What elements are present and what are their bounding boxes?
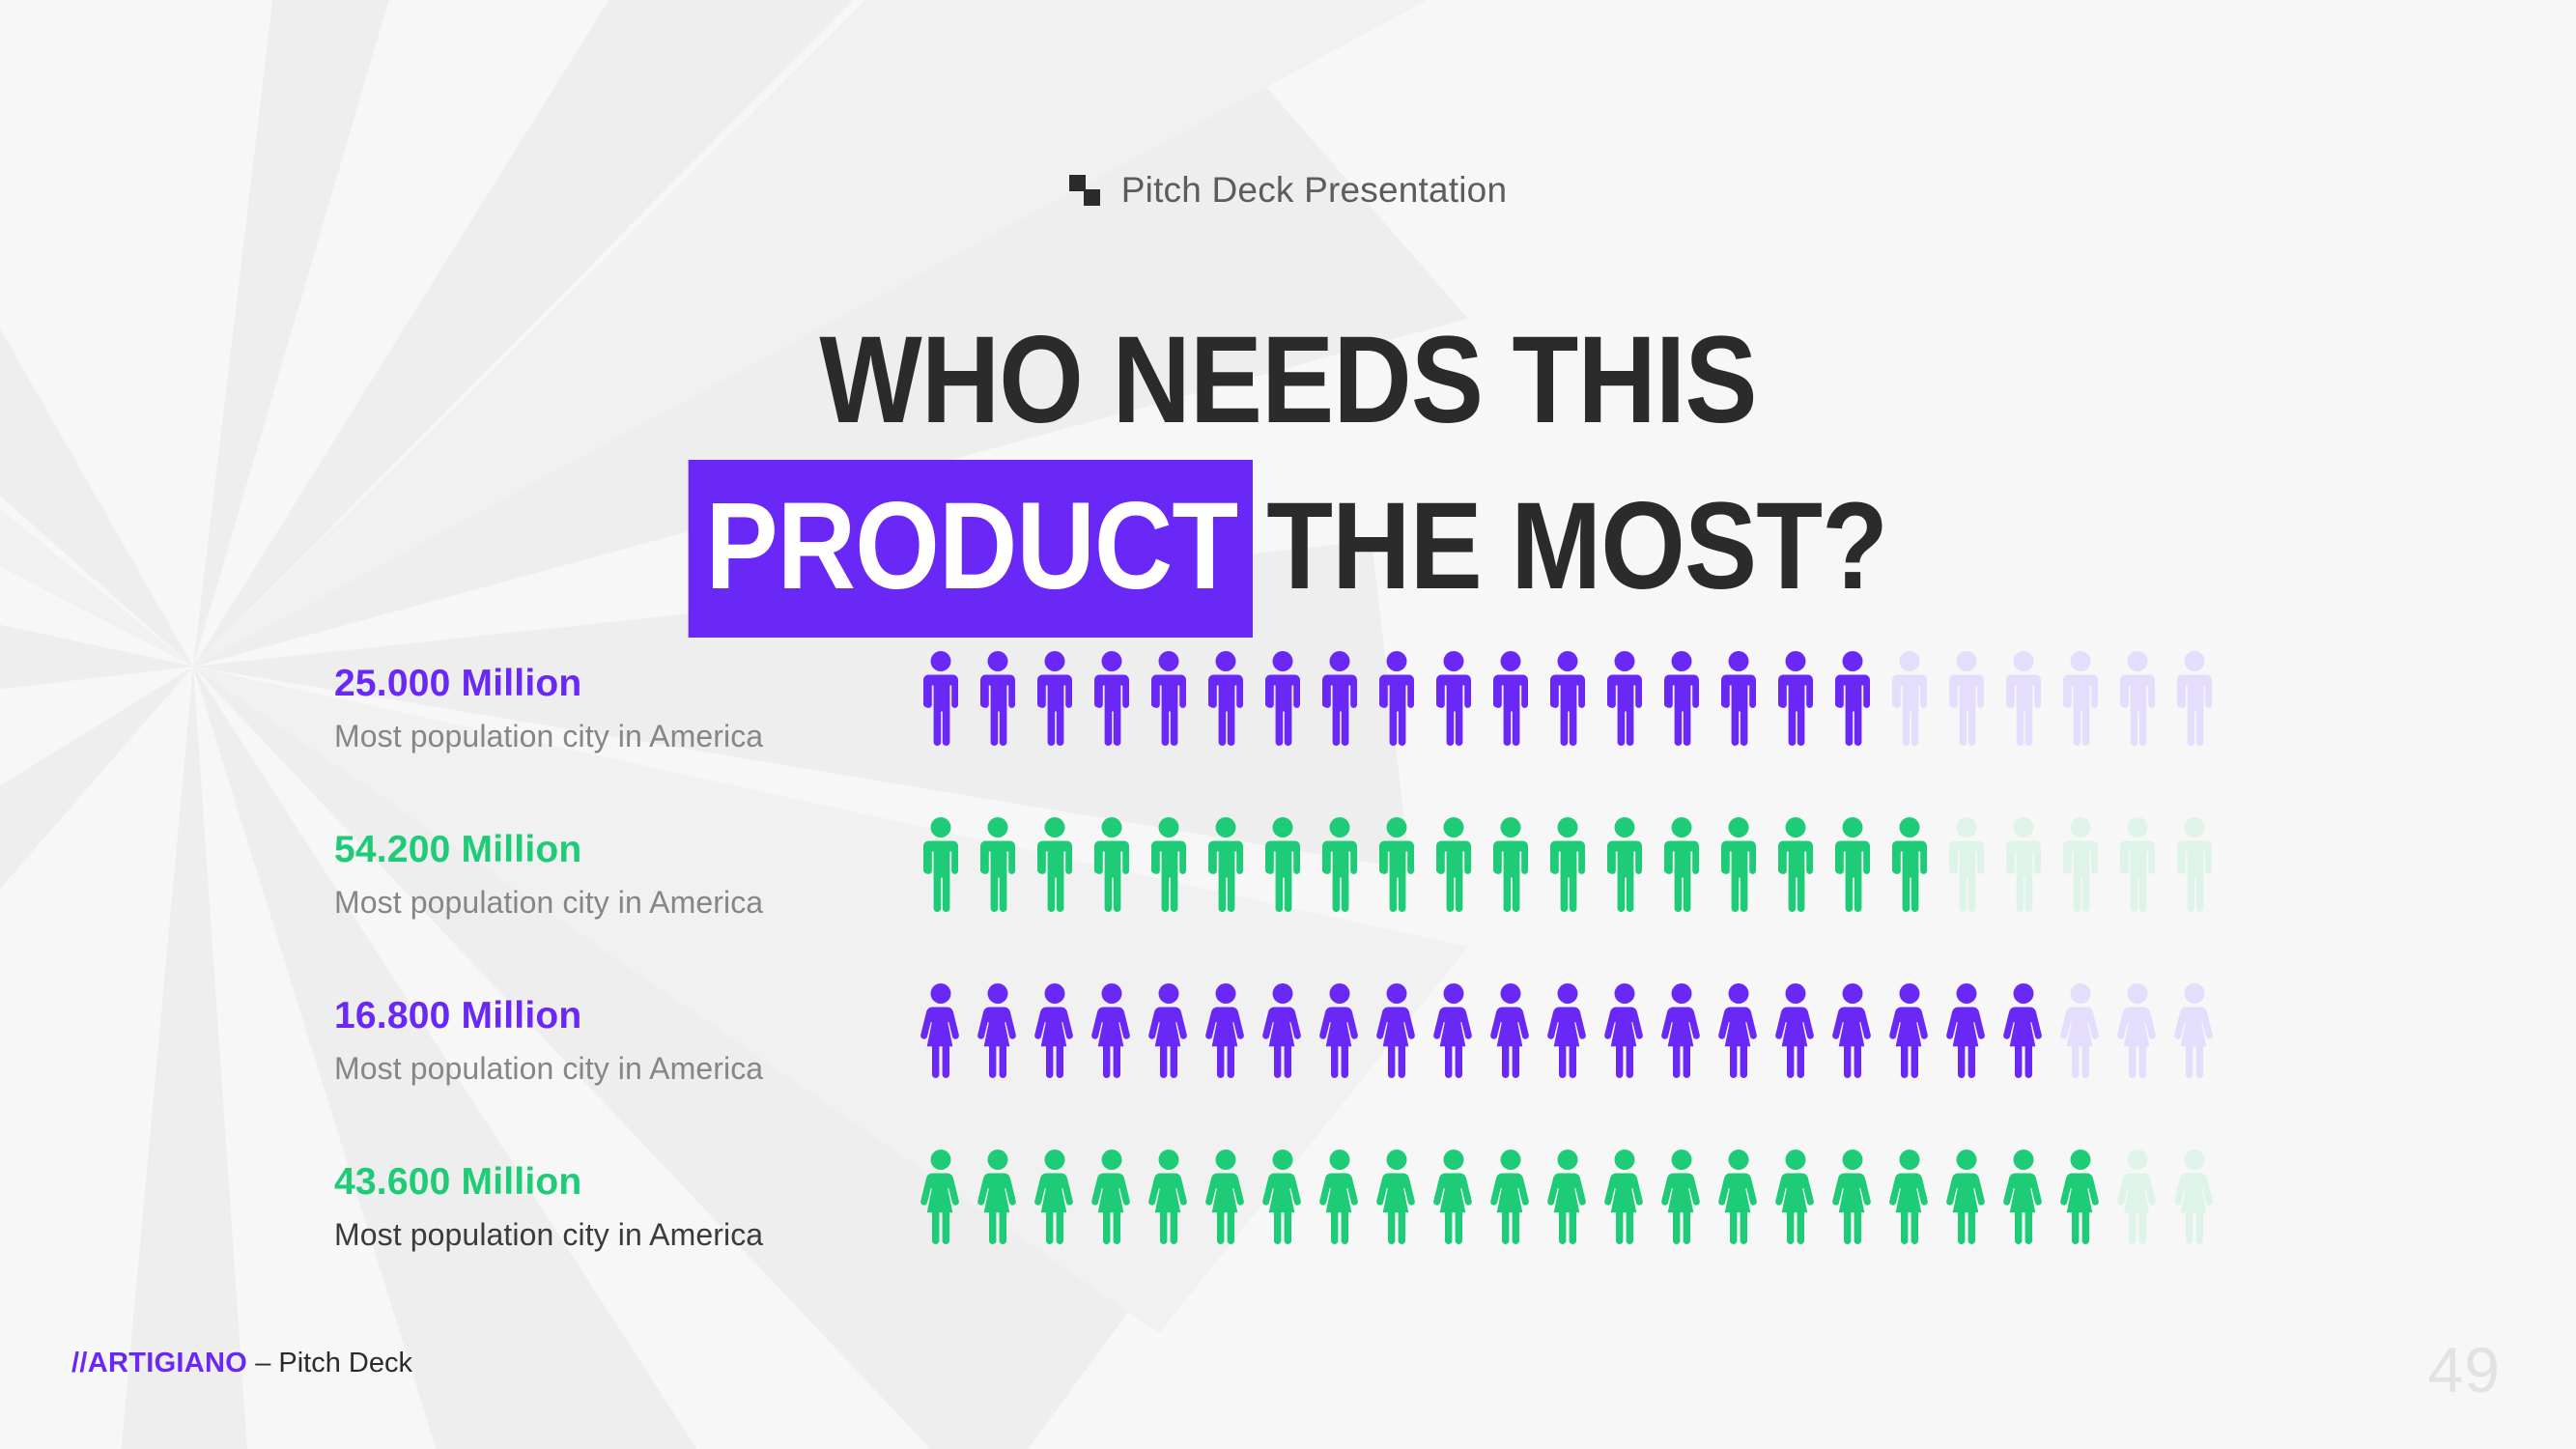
title-line-2: PRODUCTTHE MOST? [155, 460, 2421, 638]
person-male-icon [920, 649, 962, 746]
person-female-icon [920, 1148, 962, 1244]
person-male-icon [2116, 649, 2159, 746]
person-female-icon [1489, 981, 1532, 1078]
person-female-icon [1774, 1148, 1817, 1244]
title-line-2-rest: THE MOST? [1266, 477, 1887, 615]
eyebrow-label: Pitch Deck Presentation [1121, 170, 1507, 211]
row-value: 54.200 Million [334, 829, 856, 871]
slide-canvas: Pitch Deck Presentation WHO NEEDS THIS P… [0, 0, 2576, 1449]
person-male-icon [1033, 815, 1076, 912]
person-male-icon [2116, 815, 2159, 912]
person-male-icon [1090, 649, 1133, 746]
person-male-icon [1660, 815, 1703, 912]
page-title: WHO NEEDS THIS PRODUCTTHE MOST? [155, 319, 2421, 638]
person-female-icon [1318, 1148, 1361, 1244]
person-male-icon [1489, 649, 1532, 746]
person-female-icon [1318, 981, 1361, 1078]
person-female-icon [1603, 1148, 1646, 1244]
person-female-icon [977, 981, 1019, 1078]
person-male-icon [1204, 649, 1247, 746]
person-female-icon [1603, 981, 1646, 1078]
row-subtitle: Most population city in America [334, 719, 856, 754]
person-male-icon [920, 815, 962, 912]
person-female-icon [1717, 981, 1760, 1078]
person-male-icon [1831, 649, 1874, 746]
person-male-icon [1318, 815, 1361, 912]
row-subtitle: Most population city in America [334, 1051, 856, 1087]
person-male-icon [1318, 649, 1361, 746]
row-people-strip [920, 981, 2216, 1078]
person-female-icon [1831, 981, 1874, 1078]
person-female-icon [2059, 981, 2102, 1078]
person-female-icon [1090, 981, 1133, 1078]
person-male-icon [1831, 815, 1874, 912]
person-female-icon [1660, 981, 1703, 1078]
person-female-icon [1147, 981, 1190, 1078]
person-female-icon [1261, 1148, 1304, 1244]
person-male-icon [1489, 815, 1532, 912]
person-female-icon [1432, 1148, 1475, 1244]
person-female-icon [1546, 981, 1589, 1078]
row-value: 43.600 Million [334, 1161, 856, 1204]
person-male-icon [1261, 815, 1304, 912]
person-female-icon [1375, 1148, 1418, 1244]
person-male-icon [2173, 815, 2216, 912]
person-male-icon [1888, 815, 1931, 912]
brand-label: //ARTIGIANO [71, 1348, 247, 1378]
pictogram-row: 16.800 Million Most population city in A… [0, 981, 2576, 1148]
row-subtitle: Most population city in America [334, 885, 856, 921]
person-female-icon [1090, 1148, 1133, 1244]
person-female-icon [1432, 981, 1475, 1078]
person-male-icon [1888, 649, 1931, 746]
person-male-icon [1603, 649, 1646, 746]
person-male-icon [2173, 649, 2216, 746]
row-subtitle: Most population city in America [334, 1217, 856, 1253]
person-female-icon [1204, 1148, 1247, 1244]
person-male-icon [2059, 649, 2102, 746]
person-female-icon [1888, 1148, 1931, 1244]
person-male-icon [1375, 815, 1418, 912]
person-male-icon [2059, 815, 2102, 912]
person-male-icon [1261, 649, 1304, 746]
person-male-icon [1147, 649, 1190, 746]
person-male-icon [1603, 815, 1646, 912]
person-female-icon [977, 1148, 1019, 1244]
person-female-icon [1945, 1148, 1988, 1244]
row-people-strip [920, 649, 2216, 746]
person-male-icon [1204, 815, 1247, 912]
row-label-group: 43.600 Million Most population city in A… [334, 1161, 856, 1253]
title-highlight: PRODUCT [689, 460, 1253, 638]
row-label-group: 16.800 Million Most population city in A… [334, 995, 856, 1087]
pictogram-row: 25.000 Million Most population city in A… [0, 649, 2576, 815]
person-female-icon [1489, 1148, 1532, 1244]
person-male-icon [1546, 649, 1589, 746]
person-male-icon [977, 815, 1019, 912]
person-female-icon [1945, 981, 1988, 1078]
pictogram-row: 43.600 Million Most population city in A… [0, 1148, 2576, 1314]
person-female-icon [1717, 1148, 1760, 1244]
pictogram-chart: 25.000 Million Most population city in A… [0, 649, 2576, 1314]
person-male-icon [1717, 815, 1760, 912]
person-male-icon [1090, 815, 1133, 912]
person-female-icon [920, 981, 962, 1078]
two-squares-icon [1069, 175, 1100, 206]
row-value: 25.000 Million [334, 663, 856, 705]
row-label-group: 54.200 Million Most population city in A… [334, 829, 856, 921]
person-male-icon [1375, 649, 1418, 746]
person-female-icon [1831, 1148, 1874, 1244]
person-male-icon [2002, 649, 2045, 746]
person-female-icon [1033, 981, 1076, 1078]
person-male-icon [1717, 649, 1760, 746]
person-female-icon [2116, 1148, 2159, 1244]
person-female-icon [1204, 981, 1247, 1078]
row-label-group: 25.000 Million Most population city in A… [334, 663, 856, 754]
person-male-icon [1774, 649, 1817, 746]
person-male-icon [1774, 815, 1817, 912]
person-female-icon [1033, 1148, 1076, 1244]
person-male-icon [1660, 649, 1703, 746]
title-line-1: WHO NEEDS THIS [155, 319, 2421, 442]
page-number: 49 [2428, 1333, 2501, 1406]
footer-brand: //ARTIGIANO – Pitch Deck [71, 1348, 412, 1379]
person-female-icon [1147, 1148, 1190, 1244]
row-people-strip [920, 1148, 2216, 1244]
person-female-icon [1375, 981, 1418, 1078]
person-female-icon [2173, 981, 2216, 1078]
person-male-icon [977, 649, 1019, 746]
person-female-icon [2002, 1148, 2045, 1244]
footer-separator: – Pitch Deck [247, 1348, 412, 1378]
person-male-icon [1432, 649, 1475, 746]
header-eyebrow: Pitch Deck Presentation [0, 170, 2576, 211]
person-female-icon [1774, 981, 1817, 1078]
person-male-icon [2002, 815, 2045, 912]
person-male-icon [1546, 815, 1589, 912]
person-female-icon [1261, 981, 1304, 1078]
person-male-icon [1945, 649, 1988, 746]
person-female-icon [2116, 981, 2159, 1078]
person-female-icon [1888, 981, 1931, 1078]
row-value: 16.800 Million [334, 995, 856, 1037]
person-female-icon [2173, 1148, 2216, 1244]
person-male-icon [1945, 815, 1988, 912]
pictogram-row: 54.200 Million Most population city in A… [0, 815, 2576, 981]
person-male-icon [1147, 815, 1190, 912]
row-people-strip [920, 815, 2216, 912]
person-female-icon [2002, 981, 2045, 1078]
person-female-icon [1660, 1148, 1703, 1244]
person-female-icon [2059, 1148, 2102, 1244]
person-male-icon [1033, 649, 1076, 746]
person-male-icon [1432, 815, 1475, 912]
person-female-icon [1546, 1148, 1589, 1244]
